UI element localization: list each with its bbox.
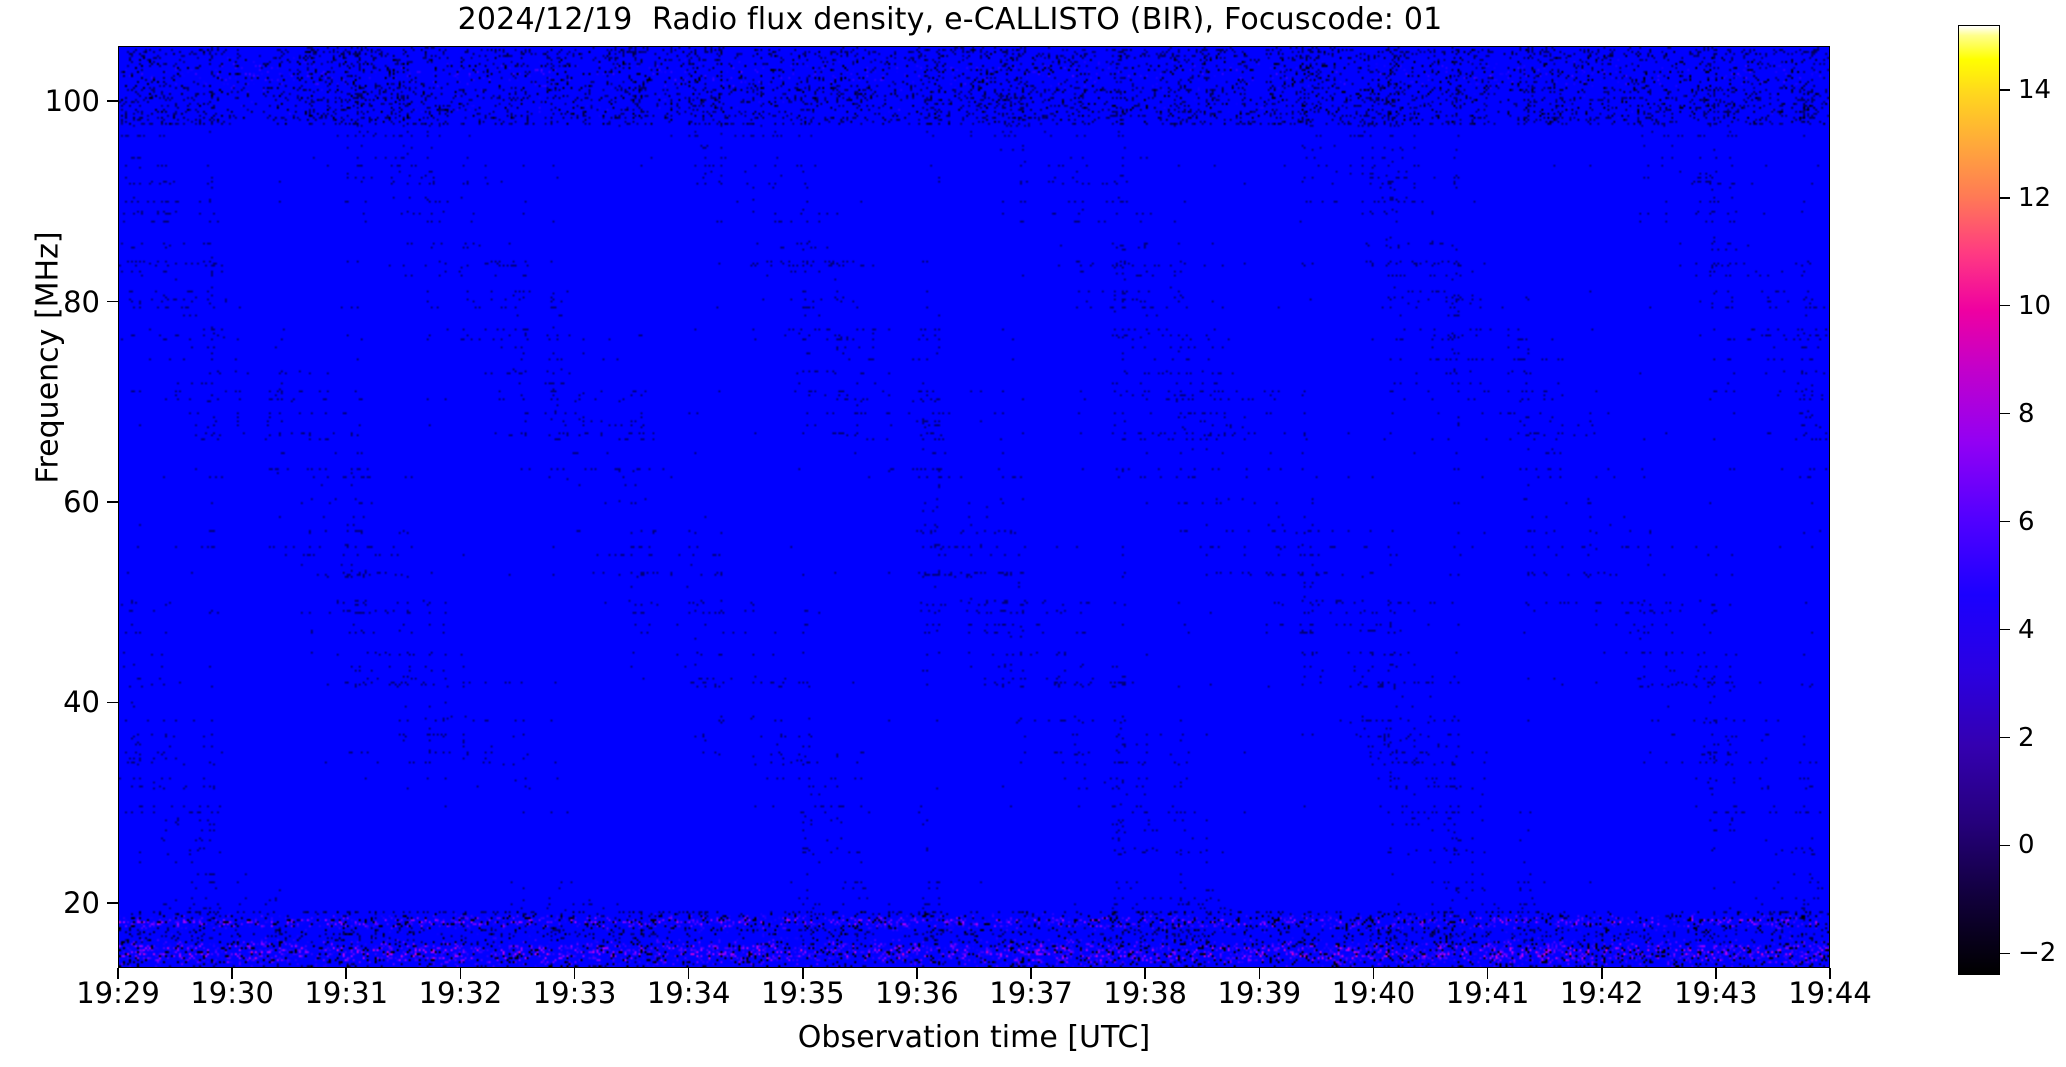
colorbar-tick-mark bbox=[2000, 89, 2010, 91]
colorbar-tick-mark bbox=[2000, 521, 2010, 523]
colorbar-tick-label: 10 bbox=[2018, 291, 2051, 321]
colorbar-tick-mark bbox=[2000, 305, 2010, 307]
x-axis-label: Observation time [UTC] bbox=[118, 1020, 1830, 1055]
y-axis-label: Frequency [MHz] bbox=[31, 98, 66, 618]
colorbar-tick-mark bbox=[2000, 845, 2010, 847]
colorbar-label: dB above background bbox=[2063, 258, 2066, 698]
figure-title: 2024/12/19 Radio flux density, e-CALLIST… bbox=[0, 2, 1900, 37]
y-tick-mark bbox=[107, 902, 118, 904]
y-tick-label: 40 bbox=[0, 685, 100, 719]
spectrogram-image bbox=[119, 47, 1829, 967]
colorbar-tick-label: 14 bbox=[2018, 75, 2051, 105]
y-tick-label: 20 bbox=[0, 886, 100, 920]
y-tick-mark bbox=[107, 301, 118, 303]
x-tick-label: 19:44 bbox=[1750, 976, 1910, 1010]
y-tick-mark bbox=[107, 501, 118, 503]
colorbar-tick-label: 6 bbox=[2018, 507, 2035, 537]
colorbar-tick-label: 4 bbox=[2018, 615, 2035, 645]
colorbar-gradient bbox=[1958, 25, 2000, 975]
colorbar-tick-label: −2 bbox=[2018, 938, 2056, 968]
colorbar-tick-mark bbox=[2000, 413, 2010, 415]
colorbar-tick-label: 12 bbox=[2018, 183, 2051, 213]
colorbar-tick-mark bbox=[2000, 197, 2010, 199]
colorbar-tick-label: 2 bbox=[2018, 723, 2035, 753]
colorbar-tick-label: 0 bbox=[2018, 830, 2035, 860]
colorbar-tick-mark bbox=[2000, 629, 2010, 631]
spectrogram-plot-area bbox=[118, 46, 1830, 968]
y-tick-mark bbox=[107, 100, 118, 102]
y-tick-mark bbox=[107, 702, 118, 704]
colorbar-tick-mark bbox=[2000, 737, 2010, 739]
colorbar-tick-label: 8 bbox=[2018, 399, 2035, 429]
colorbar-tick-mark bbox=[2000, 953, 2010, 955]
spectrogram-figure: 2024/12/19 Radio flux density, e-CALLIST… bbox=[0, 0, 2066, 1067]
